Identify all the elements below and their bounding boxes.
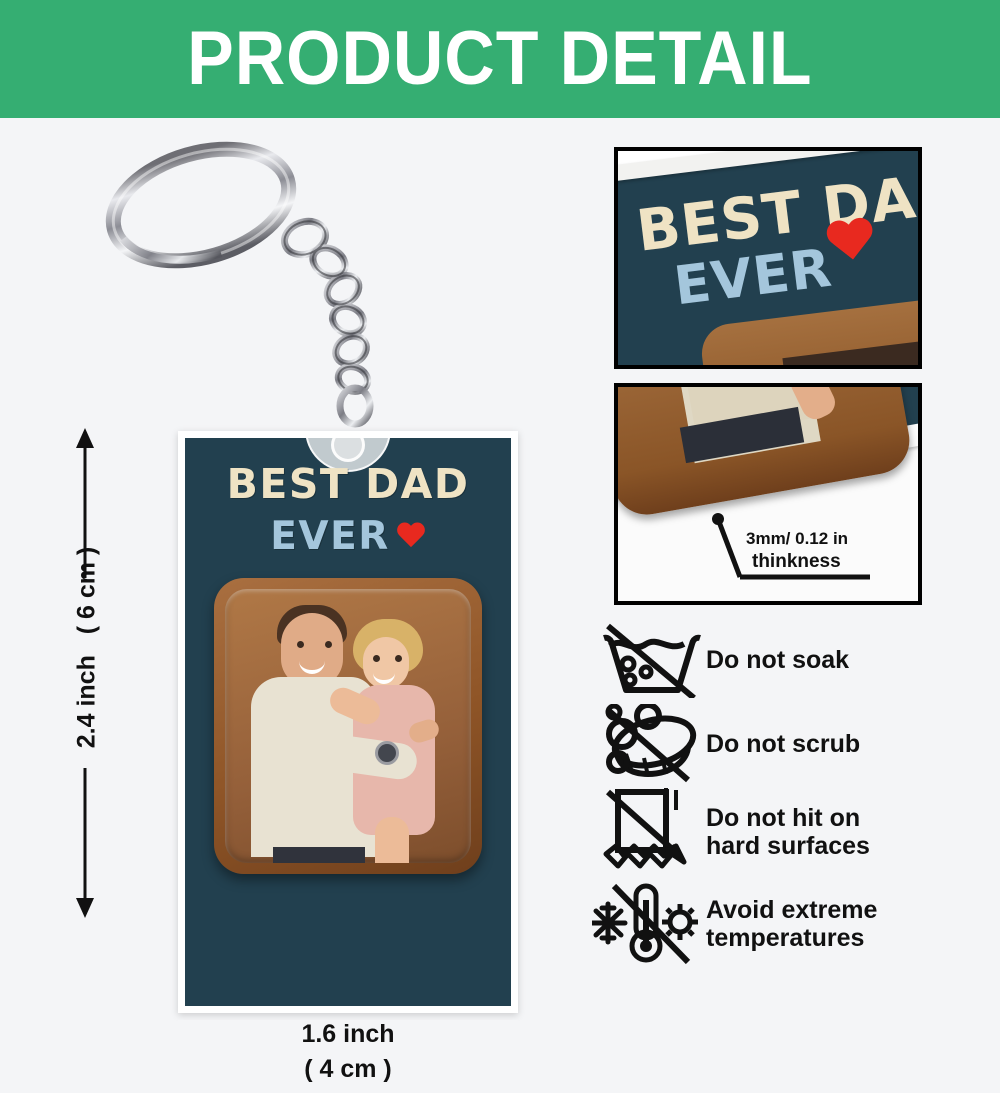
care-label: Avoid extreme temperatures: [706, 896, 877, 952]
care-row-do-not-hit: Do not hit on hard surfaces: [588, 786, 1000, 878]
page-title: PRODUCT DETAIL: [187, 21, 812, 97]
headline-best-dad: BEST DAD: [185, 460, 511, 508]
headline-ever: EVER: [270, 514, 390, 559]
height-inch-value: 2.4 inch: [73, 655, 101, 748]
detail-photo-closeup-text: BEST DAD EVER: [614, 147, 922, 369]
thickness-label: thinkness: [752, 551, 841, 573]
do-not-hit-icon: [588, 788, 706, 876]
chain-icon: [265, 216, 405, 446]
care-label: Do not soak: [706, 646, 849, 674]
care-row-do-not-soak: Do not soak: [588, 618, 1000, 702]
dimension-width: 1.6 inch ( 4 cm ): [178, 1023, 518, 1093]
header-banner: PRODUCT DETAIL: [0, 0, 1000, 118]
do-not-scrub-icon: [588, 704, 706, 784]
heart-icon: [396, 523, 426, 551]
detail-photo-thickness: 3mm/ 0.12 in thinkness: [614, 383, 922, 605]
user-photo: [225, 589, 471, 863]
product-showcase-panel: BEST DAD EVER: [0, 118, 580, 1000]
width-cm-value: ( 4 cm ): [178, 1055, 518, 1084]
details-panel: BEST DAD EVER 3mm/ 0.12 in thinkness: [580, 118, 1000, 1000]
keyring-hardware: [95, 138, 415, 443]
avoid-extreme-temperatures-icon: [588, 880, 706, 968]
care-row-do-not-scrub: Do not scrub: [588, 702, 1000, 786]
keychain-product-card: BEST DAD EVER: [178, 431, 518, 1013]
dimension-height-label: 2.4 inch ( 6 cm ): [73, 523, 102, 773]
thickness-value: 3mm/ 0.12 in: [746, 529, 848, 549]
height-cm-value: ( 6 cm ): [73, 547, 101, 635]
care-label: Do not scrub: [706, 730, 860, 758]
care-label: Do not hit on hard surfaces: [706, 804, 870, 860]
dimension-height: 2.4 inch ( 6 cm ): [60, 428, 110, 918]
heart-icon: [824, 217, 879, 269]
headline-ever-row: EVER: [185, 514, 511, 559]
width-inch-value: 1.6 inch: [178, 1020, 518, 1049]
care-instructions-list: Do not soak: [588, 618, 1000, 970]
care-row-avoid-extreme-temperatures: Avoid extreme temperatures: [588, 878, 1000, 970]
keychain-face: BEST DAD EVER: [185, 438, 511, 1006]
photo-frame: [214, 578, 482, 874]
do-not-soak-icon: [588, 622, 706, 698]
product-detail-infographic: PRODUCT DETAIL: [0, 0, 1000, 1000]
